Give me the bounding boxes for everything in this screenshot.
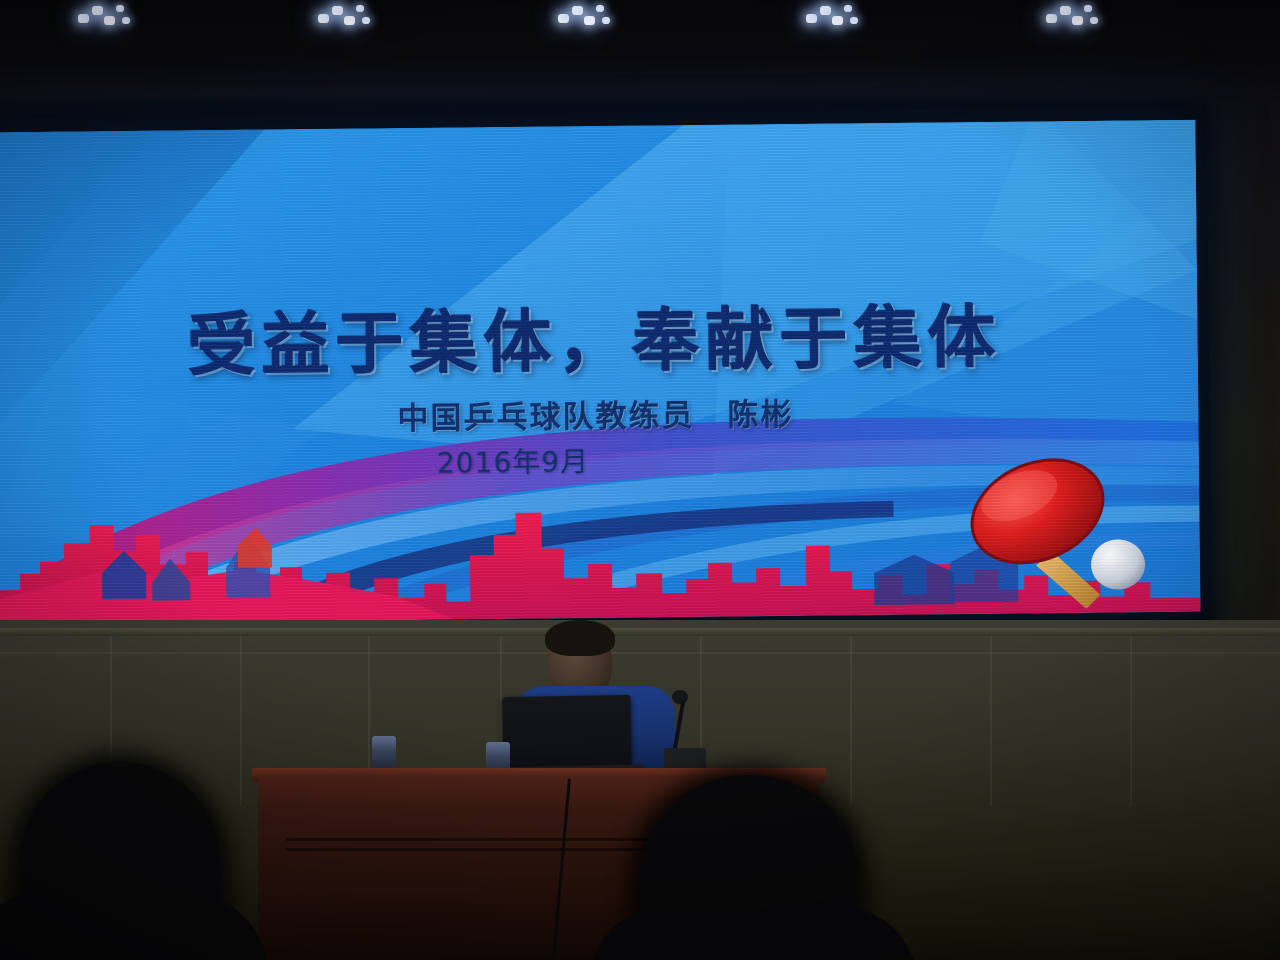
light-bulb [1060,6,1071,15]
light-bulb [122,17,130,24]
ceiling-light-3 [552,2,616,28]
light-bulb [332,6,343,15]
presentation-photo-scene: 受益于集体，奉献于集体 中国乒乓球队教练员 陈彬 2016年9月 [0,0,1280,960]
presenter-hair [545,620,615,656]
presentation-slide: 受益于集体，奉献于集体 中国乒乓球队教练员 陈彬 2016年9月 [0,120,1201,625]
light-bulb [344,16,355,25]
wall-seam [240,636,242,806]
laptop [502,695,631,769]
light-bulb [850,17,858,24]
light-bulb [356,5,364,12]
light-bulb [318,14,329,23]
audience-shoulders-right [588,906,918,960]
ceiling-light-4 [800,2,864,28]
light-bulb [820,6,831,15]
light-bulb [362,17,370,24]
led-video-wall: 受益于集体，奉献于集体 中国乒乓球队教练员 陈彬 2016年9月 [0,120,1201,625]
light-bulb [78,14,89,23]
light-bulb [596,5,604,12]
wall-panel-line [0,652,1280,654]
light-bulb [572,6,583,15]
light-bulb [1046,14,1057,23]
light-bulb [558,14,569,23]
ceiling-light-2 [312,2,376,28]
light-bulb [602,17,610,24]
wall-seam [990,636,992,806]
light-bulb [584,16,595,25]
light-bulb [116,5,124,12]
wall-seam [850,636,852,806]
light-bulb [844,5,852,12]
light-bulb [1090,17,1098,24]
wall-seam [1130,636,1132,806]
light-bulb [806,14,817,23]
slide-title: 受益于集体，奉献于集体 [0,280,1198,392]
wall-rail [0,628,1280,636]
light-bulb [1084,5,1092,12]
light-bulb [832,16,843,25]
ceiling-light-5 [1040,2,1104,28]
light-bulb [92,6,103,15]
light-bulb [1072,16,1083,25]
cup-left [372,736,396,768]
ceiling-light-1 [72,2,136,28]
light-bulb [104,16,115,25]
